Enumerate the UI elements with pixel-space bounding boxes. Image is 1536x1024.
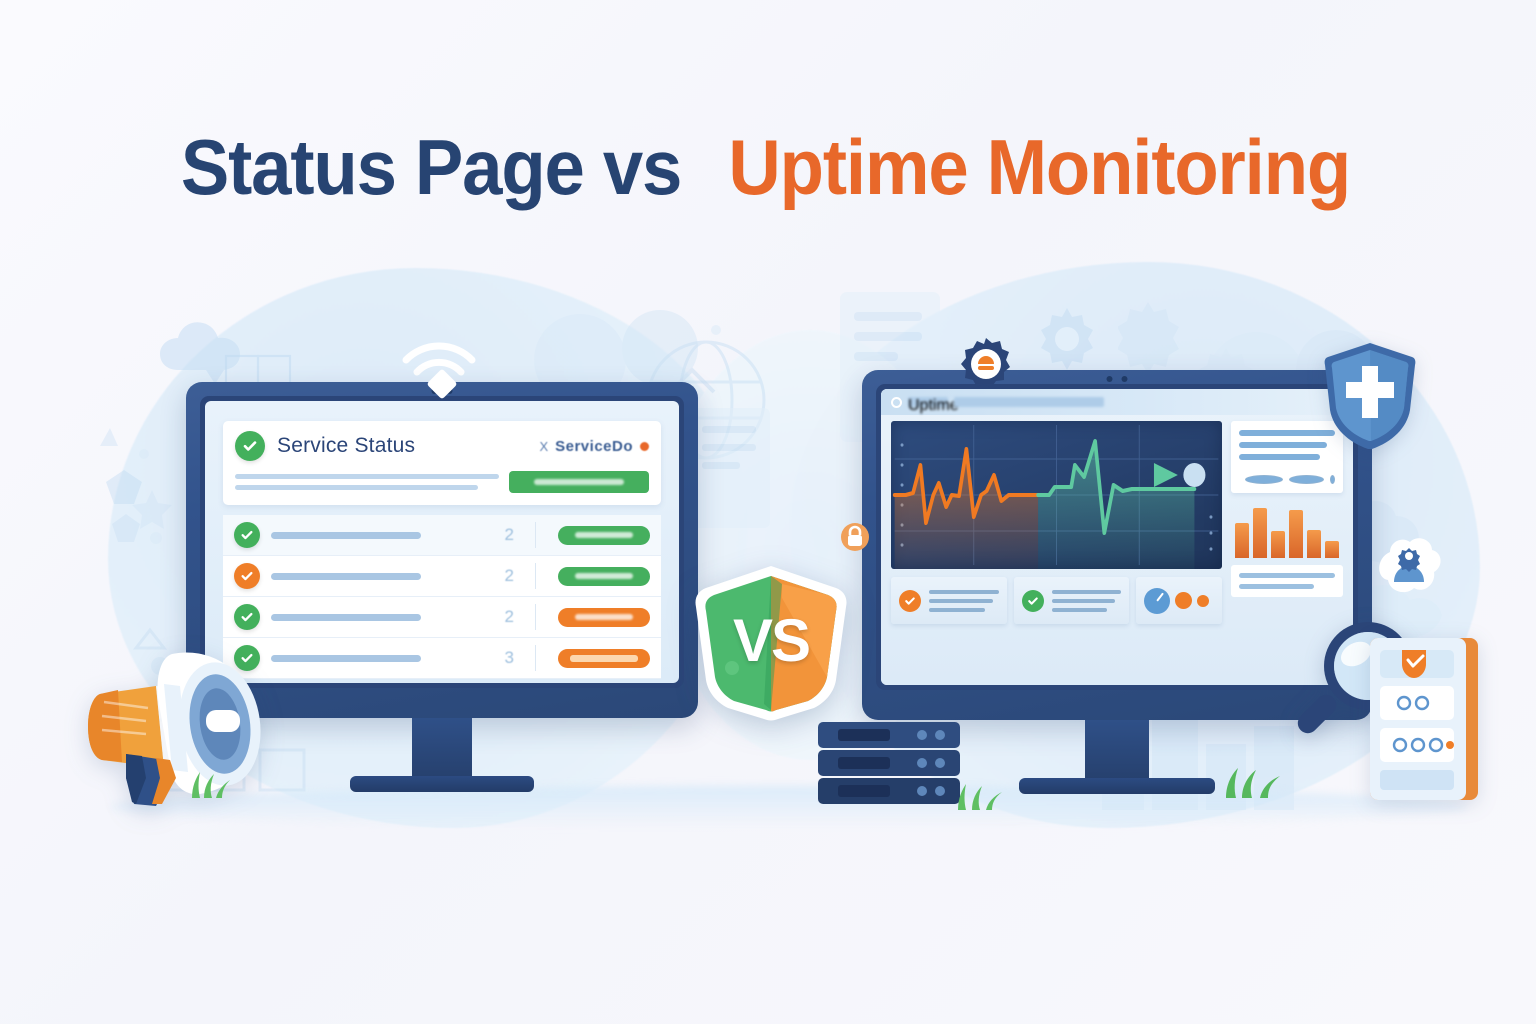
check-circle-green-icon <box>235 431 265 461</box>
row-label-placeholder <box>271 532 421 539</box>
circle-icon <box>1289 475 1324 484</box>
topbar-placeholder-bar <box>954 397 1104 407</box>
row-count: 3 <box>505 648 524 668</box>
list-item[interactable] <box>891 577 1007 624</box>
circle-icon <box>891 397 902 408</box>
monitor-indicator-dots-right <box>1107 376 1128 382</box>
status-badge <box>558 649 650 668</box>
row-divider <box>535 522 536 548</box>
gear-decor-icon <box>1028 300 1106 378</box>
dashboard-body <box>891 421 1343 677</box>
brand-dot-icon <box>640 442 649 451</box>
grass-decor-icon-3 <box>1220 766 1284 798</box>
health-shield-icon <box>1322 340 1418 452</box>
side-footer-card[interactable] <box>1231 565 1343 597</box>
brand-logo: X ServiceDo <box>539 438 649 455</box>
dashboard-content: Uptime <box>881 389 1353 685</box>
dashboard-topbar: Uptime <box>881 389 1353 415</box>
status-badge <box>558 608 650 627</box>
circle-icon <box>1330 475 1335 484</box>
grass-decor-icon-2 <box>952 782 1006 810</box>
monitoring-dashboard-screen[interactable]: Uptime <box>881 389 1353 685</box>
subscribe-button[interactable] <box>509 471 649 493</box>
status-badge <box>558 526 650 545</box>
status-badge <box>558 567 650 586</box>
row-label-placeholder <box>271 573 421 580</box>
vs-shield-badge: VS <box>686 562 856 722</box>
card-text-lines <box>1052 590 1122 612</box>
row-divider <box>535 563 536 589</box>
card-text-lines <box>929 590 999 612</box>
brand-x-mark: X <box>539 439 548 454</box>
row-count: 2 <box>505 566 524 586</box>
dashboard-cards-row <box>891 577 1222 624</box>
title-part-orange: Uptime Monitoring <box>728 128 1350 206</box>
title-part-dark: Status Page vs <box>181 128 681 206</box>
brand-name: ServiceDo <box>555 438 633 455</box>
list-item[interactable] <box>1136 577 1222 624</box>
lock-badge-icon <box>840 520 870 554</box>
alert-dot-icon <box>1197 595 1209 607</box>
monitor-stand-neck-right <box>1085 720 1149 782</box>
check-circle-orange-icon <box>234 563 260 589</box>
gear-badge-icon <box>958 336 1014 392</box>
illustration-canvas: Status Page vs Uptime Monitoring <box>0 0 1536 1024</box>
phone-icon <box>1175 592 1192 609</box>
monitor-stand-neck-left <box>412 718 472 780</box>
header-text-lines <box>235 474 499 490</box>
check-circle-orange-icon <box>899 590 921 612</box>
table-row[interactable]: 2 <box>223 515 661 556</box>
monitor-stand-base-right <box>1019 778 1215 794</box>
service-status-title: Service Status <box>277 434 415 458</box>
grass-decor-icon <box>186 770 232 798</box>
document-decor-icon <box>686 404 776 534</box>
check-circle-green-icon <box>234 522 260 548</box>
circle-icon <box>1245 475 1283 484</box>
row-divider <box>535 645 536 671</box>
service-status-header-card: Service Status X ServiceDo <box>223 421 661 505</box>
side-status-row <box>1239 469 1335 484</box>
check-circle-green-icon <box>234 604 260 630</box>
list-item[interactable] <box>1014 577 1130 624</box>
megaphone-icon <box>60 628 310 808</box>
row-count: 2 <box>505 525 524 545</box>
table-row[interactable]: 2 <box>223 556 661 597</box>
vs-label: VS <box>686 606 856 675</box>
check-circle-green-icon <box>1022 590 1044 612</box>
row-label-placeholder <box>271 614 421 621</box>
uptime-chart[interactable] <box>891 421 1222 569</box>
topbar-label: Uptime <box>908 397 948 407</box>
server-rack-card-icon <box>1366 634 1484 804</box>
dashboard-main-column <box>891 421 1222 677</box>
person-cloud-icon <box>1372 534 1444 596</box>
page-title: Status Page vs Uptime Monitoring <box>0 128 1536 206</box>
gauge-icon <box>1144 588 1170 614</box>
side-bar-chart <box>1231 500 1343 558</box>
star-decor-icon <box>98 420 188 570</box>
row-divider <box>535 604 536 630</box>
monitor-stand-base-left <box>350 776 534 792</box>
row-count: 2 <box>505 607 524 627</box>
